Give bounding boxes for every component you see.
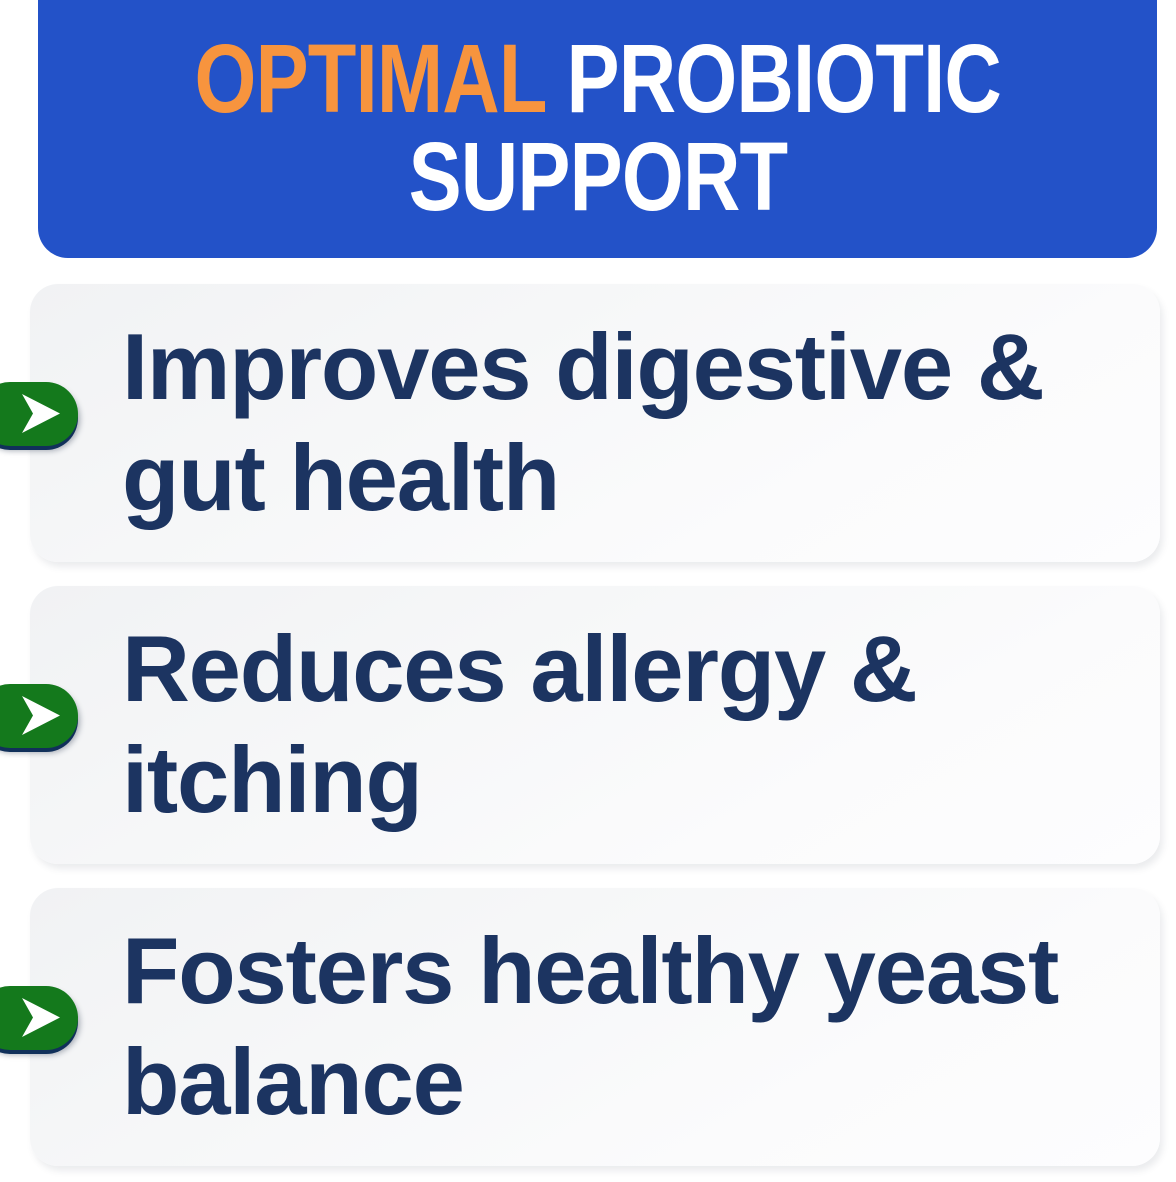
feature-card-1: Improves digestive & gut health — [30, 284, 1160, 562]
banner-title-line-2: SUPPORT — [408, 129, 787, 225]
feature-bullet-badge-3 — [0, 986, 78, 1050]
header-banner: OPTIMAL PROBIOTIC SUPPORT — [38, 0, 1157, 258]
feature-text-1: Improves digestive & gut health — [122, 312, 1122, 534]
green-chevron-arrow-icon — [18, 392, 64, 436]
feature-bullet-badge-2 — [0, 684, 78, 748]
feature-card-2: Reduces allergy & itching — [30, 586, 1160, 864]
probiotic-benefits-infographic: OPTIMAL PROBIOTIC SUPPORT Improves diges… — [0, 0, 1176, 1182]
banner-word-support: SUPPORT — [408, 122, 787, 231]
feature-card-3: Fosters healthy yeast balance — [30, 888, 1160, 1166]
green-chevron-arrow-icon — [18, 694, 64, 738]
banner-word-optimal: OPTIMAL — [194, 24, 545, 133]
feature-bullet-badge-1 — [0, 382, 78, 446]
feature-text-2: Reduces allergy & itching — [122, 614, 1122, 836]
feature-text-3: Fosters healthy yeast balance — [122, 916, 1122, 1138]
banner-title-line-1: OPTIMAL PROBIOTIC — [194, 31, 1001, 127]
banner-word-probiotic: PROBIOTIC — [545, 24, 1001, 133]
green-chevron-arrow-icon — [18, 996, 64, 1040]
